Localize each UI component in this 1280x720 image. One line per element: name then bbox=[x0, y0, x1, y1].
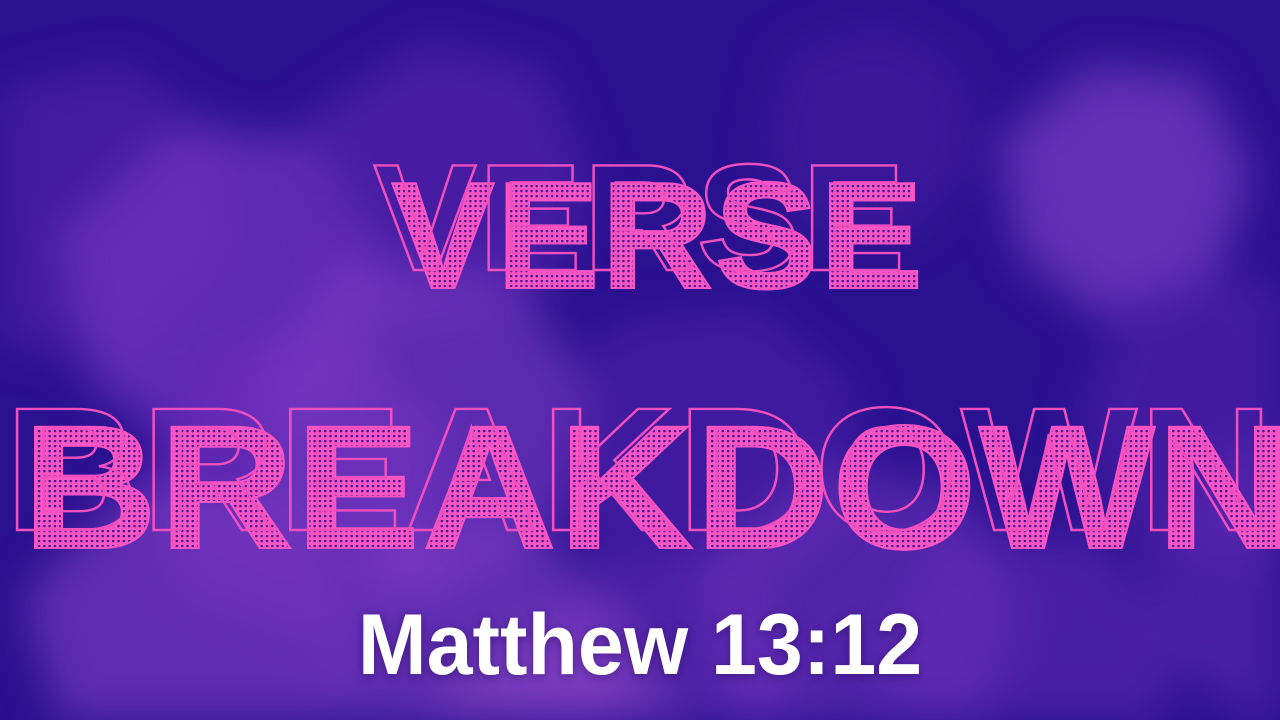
headline-line-2: BREAKDOWN BREAKDOWN BREAKDOWN bbox=[0, 382, 1280, 602]
verse-title-card: VERSE VERSE VERSE BREAKDOWN BREAKDOWN BR… bbox=[0, 0, 1280, 720]
headline-line-1-face: VERSE bbox=[0, 142, 1280, 294]
scripture-reference: Matthew 13:12 bbox=[26, 596, 1255, 695]
headline-line-1: VERSE VERSE VERSE bbox=[0, 142, 1280, 332]
headline-line-2-face: BREAKDOWN bbox=[0, 382, 1280, 558]
